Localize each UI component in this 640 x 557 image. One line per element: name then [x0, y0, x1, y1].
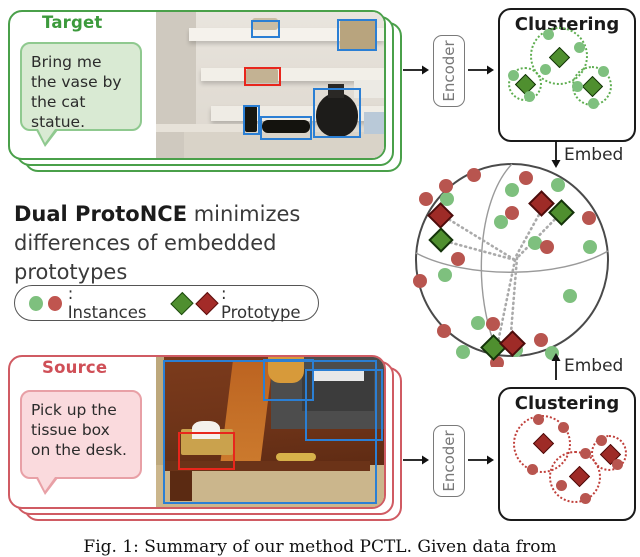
bbox-wooden-vase	[337, 19, 377, 51]
target-instance	[543, 29, 554, 40]
legend-instances: : Instances	[29, 284, 150, 322]
method-name: Dual ProtoNCE	[14, 202, 187, 226]
embed-label-bottom: Embed	[564, 356, 623, 376]
target-card: Bring me the vase by the cat statue.	[8, 10, 386, 160]
clustering-source-title: Clustering	[500, 393, 634, 414]
source-bubble-tail-fill	[38, 477, 55, 491]
arrow-source-to-encoder	[402, 452, 430, 468]
target-instance	[508, 70, 519, 81]
source-instance	[556, 480, 567, 491]
source-panel: Pick up the tissue box on the desk. Sour…	[8, 355, 406, 523]
source-panel-label: Source	[36, 358, 113, 377]
legend-prototype: : Prototype	[174, 284, 304, 322]
encoder-source: Encoder	[433, 425, 465, 497]
target-panel-label: Target	[36, 13, 109, 32]
target-instruction-bubble: Bring me the vase by the cat statue.	[20, 42, 142, 131]
bbox-coral-object	[251, 20, 281, 38]
bbox-target-vase	[244, 67, 282, 86]
prototype-green-diamond-icon	[171, 291, 194, 314]
arrow-encoder-to-clustering-top	[467, 62, 495, 78]
legend: : Instances : Prototype	[14, 285, 319, 321]
encoder-target: Encoder	[433, 35, 465, 107]
arrow-encoder-to-clustering-bottom	[467, 452, 495, 468]
prototype-red-diamond-icon	[195, 291, 218, 314]
source-instance	[580, 493, 591, 504]
method-statement-line2: differences of embedded prototypes	[14, 231, 277, 284]
hypersphere-embedding	[405, 155, 620, 367]
target-instance	[540, 64, 551, 75]
source-instruction-bubble: Pick up the tissue box on the desk.	[20, 390, 142, 479]
encoder-target-label: Encoder	[440, 40, 458, 101]
source-instance	[612, 459, 623, 470]
target-instruction-text: Bring me the vase by the cat statue.	[31, 52, 131, 132]
clustering-target: Clustering	[498, 8, 636, 142]
bbox-black-pitcher	[313, 88, 361, 138]
source-instance	[533, 414, 544, 425]
arrow-target-to-encoder	[402, 62, 430, 78]
legend-prototype-label: : Prototype	[221, 284, 304, 322]
bbox-cat-statue	[260, 116, 312, 141]
legend-instances-label: : Instances	[68, 284, 151, 322]
bbox-tissue-box	[178, 432, 235, 470]
target-instance	[524, 91, 535, 102]
method-statement: Dual ProtoNCE minimizes differences of e…	[14, 200, 386, 287]
bbox-laptop	[305, 369, 383, 441]
source-card: Pick up the tissue box on the desk.	[8, 355, 386, 509]
source-instruction-text: Pick up the tissue box on the desk.	[31, 400, 131, 460]
bbox-small-statue	[243, 105, 260, 134]
method-statement-line1: minimizes	[187, 202, 300, 226]
encoder-source-label: Encoder	[440, 430, 458, 491]
figure-root: Bring me the vase by the cat statue. Tar…	[0, 0, 640, 555]
source-scene-image	[156, 357, 384, 507]
target-instance	[574, 42, 585, 53]
source-instance	[527, 464, 538, 475]
source-instance	[558, 422, 569, 433]
clustering-source: Clustering	[498, 387, 636, 521]
target-scene-image	[156, 12, 384, 158]
target-instance	[588, 98, 599, 109]
embed-arrow-up	[548, 352, 564, 380]
figure-caption: Fig. 1: Summary of our method PCTL. Give…	[0, 537, 640, 557]
target-instance	[572, 81, 583, 92]
source-instance	[596, 435, 607, 446]
target-panel: Bring me the vase by the cat statue. Tar…	[8, 10, 406, 170]
source-instance	[580, 448, 591, 459]
target-instance	[598, 66, 609, 77]
instance-red-dot-icon	[48, 296, 62, 311]
instance-green-dot-icon	[29, 296, 43, 311]
target-bubble-tail-fill	[38, 129, 55, 143]
